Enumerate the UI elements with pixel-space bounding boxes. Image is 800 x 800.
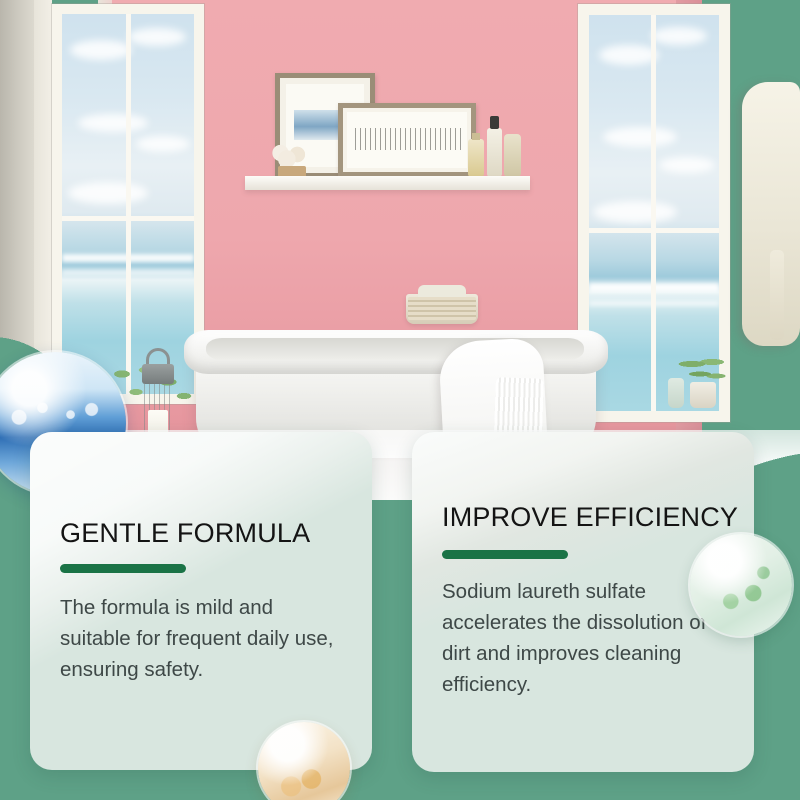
card-title-improve-efficiency: IMPROVE EFFICIENCY: [442, 504, 732, 531]
card-body-improve-efficiency: Sodium laureth sulfate accelerates the d…: [442, 576, 728, 701]
card-accent-rule: [60, 564, 186, 573]
green-botanical-bubble: [690, 534, 792, 636]
card-title-gentle-formula: GENTLE FORMULA: [60, 520, 350, 547]
card-content: IMPROVE EFFICIENCY Sodium laureth sulfat…: [442, 432, 732, 772]
infographic-canvas: GENTLE FORMULA The formula is mild and s…: [0, 0, 800, 800]
feature-cards: GENTLE FORMULA The formula is mild and s…: [0, 0, 800, 800]
card-body-gentle-formula: The formula is mild and suitable for fre…: [60, 592, 346, 685]
card-content: GENTLE FORMULA The formula is mild and s…: [60, 432, 350, 770]
card-accent-rule: [442, 550, 568, 559]
feature-card-gentle-formula[interactable]: GENTLE FORMULA The formula is mild and s…: [30, 432, 372, 770]
